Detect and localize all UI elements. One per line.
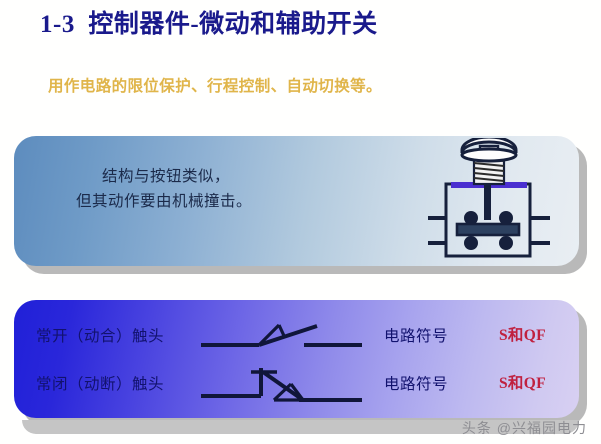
structure-description-line-1: 结构与按钮类似， — [76, 164, 252, 189]
structure-panel: 结构与按钮类似， 但其动作要由机械撞击。 — [14, 136, 579, 266]
contact-row: 常开（动合）触头 电路符号 S和QF — [14, 312, 579, 362]
page-title: 1-3 控制器件-微动和辅助开关 — [40, 4, 378, 40]
contacts-panel: 常开（动合）触头 电路符号 S和QF 常闭（动断）触头 — [14, 300, 579, 418]
normally-open-contact-symbol-icon — [199, 312, 364, 360]
contacts-panel-body: 常开（动合）触头 电路符号 S和QF 常闭（动断）触头 — [14, 300, 579, 418]
structure-panel-body: 结构与按钮类似， 但其动作要由机械撞击。 — [14, 136, 579, 266]
contact-row: 常闭（动断）触头 电路符号 S和QF — [14, 360, 579, 410]
subtitle-text: 用作电路的限位保护、行程控制、自动切换等。 — [48, 74, 382, 96]
circuit-symbol-label: 电路符号 — [384, 372, 448, 394]
micro-switch-diagram-icon — [424, 138, 556, 264]
title-text: 控制器件-微动和辅助开关 — [88, 11, 377, 38]
circuit-symbol-code: S和QF — [499, 371, 546, 393]
contact-type-label: 常开（动合）触头 — [36, 324, 164, 346]
contact-type-label: 常闭（动断）触头 — [36, 372, 164, 394]
structure-description: 结构与按钮类似， 但其动作要由机械撞击。 — [76, 164, 252, 214]
normally-closed-contact-symbol-icon — [199, 360, 364, 408]
circuit-symbol-label: 电路符号 — [384, 324, 448, 346]
title-number: 1-3 — [40, 11, 75, 38]
circuit-symbol-code: S和QF — [499, 323, 546, 345]
structure-description-line-2: 但其动作要由机械撞击。 — [76, 189, 252, 214]
slide-canvas: 1-3 控制器件-微动和辅助开关 用作电路的限位保护、行程控制、自动切换等。 结… — [0, 0, 601, 444]
watermark-text: 头条 @兴福园电力 — [462, 418, 587, 438]
